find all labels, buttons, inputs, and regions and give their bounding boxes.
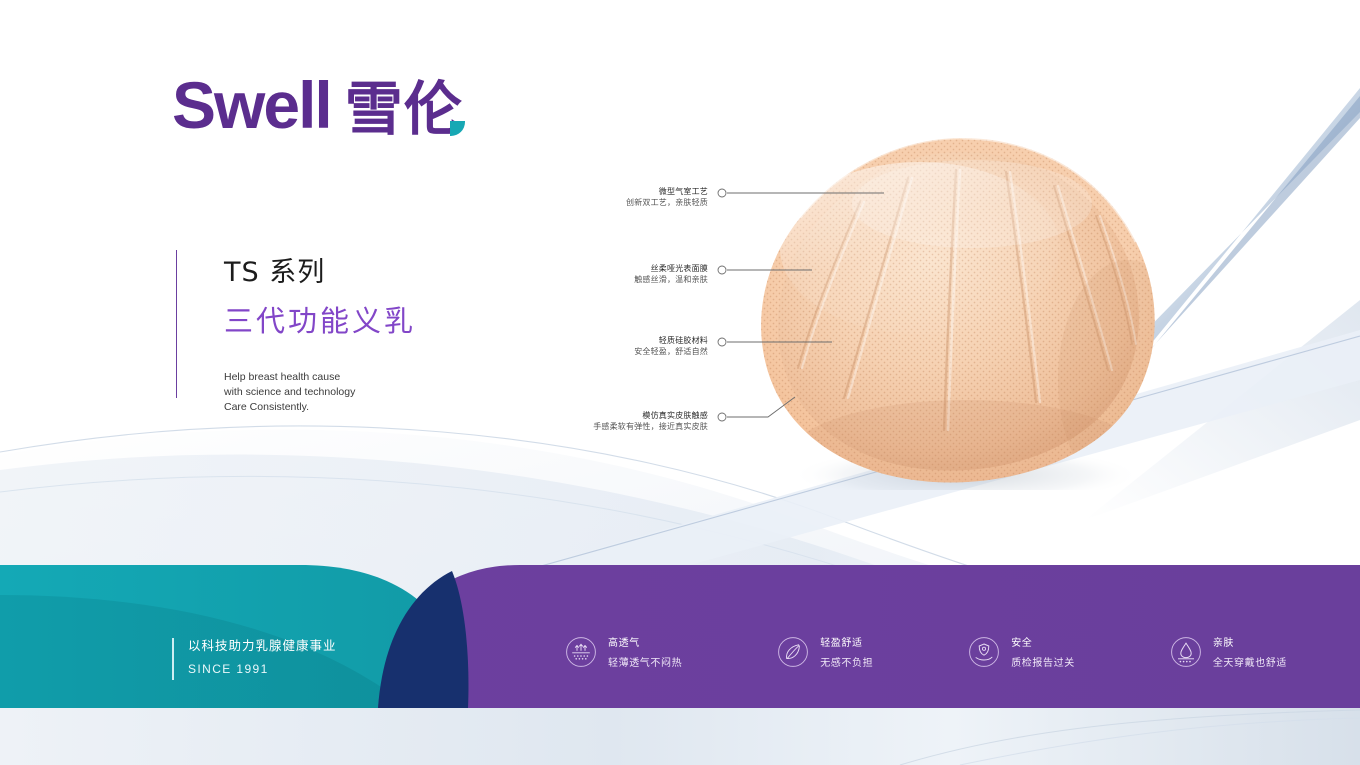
droplet-icon [1170,636,1202,668]
callout-2: 丝柔哑光表面膜 触感丝滑，温和亲肤 [560,263,708,285]
feature-text-skinfriendly: 亲肤 全天穿戴也舒适 [1213,634,1287,669]
callout-3-sub: 安全轻盈，舒适自然 [560,346,708,357]
feature-item-breathable: 高透气 轻薄透气不闷热 [565,634,682,669]
feather-icon [777,636,809,668]
title-block: TS 系列 三代功能义乳 Help breast health cause wi… [176,250,416,415]
feature-text-safety: 安全 质检报告过关 [1011,634,1075,669]
callout-3: 轻质硅胶材料 安全轻盈，舒适自然 [560,335,708,357]
feature-text-light: 轻盈舒适 无感不负担 [820,634,873,669]
tagline-english-line3: Care Consistently. [224,400,416,415]
brand-logo-latin: Swell [172,72,331,138]
feature-item-skinfriendly: 亲肤 全天穿戴也舒适 [1170,634,1287,669]
tagline-chinese: 以科技助力乳腺健康事业 [188,635,337,654]
feature-2-sub: 无感不负担 [820,654,873,669]
series-name: TS 系列 [224,250,416,289]
feature-1-sub: 轻薄透气不闷热 [608,654,682,669]
product-image [748,130,1178,490]
callout-1: 微型气室工艺 创新双工艺，亲肤轻质 [560,186,708,208]
feature-3-title: 安全 [1011,634,1075,649]
callout-3-title: 轻质硅胶材料 [560,335,708,346]
tagline-english: Help breast health cause with science an… [224,370,416,415]
tagline-english-line2: with science and technology [224,385,416,400]
tagline-rule [172,638,174,680]
callout-1-sub: 创新双工艺，亲肤轻质 [560,197,708,208]
tagline-since: SINCE 1991 [188,662,337,676]
feature-3-sub: 质检报告过关 [1011,654,1075,669]
title-vertical-rule [176,250,177,398]
tagline-english-line1: Help breast health cause [224,370,416,385]
callout-2-title: 丝柔哑光表面膜 [560,263,708,274]
breathable-icon [565,636,597,668]
callout-4-title: 模仿真实皮肤触感 [528,410,708,421]
feature-item-light: 轻盈舒适 无感不负担 [777,634,873,669]
callout-4: 模仿真实皮肤触感 手感柔软有弹性，接近真实皮肤 [528,410,708,432]
callout-1-title: 微型气室工艺 [560,186,708,197]
feature-list: 高透气 轻薄透气不闷热 轻盈舒适 无感不负担 安全 [565,634,1287,669]
feature-item-safety: 安全 质检报告过关 [968,634,1075,669]
callout-4-sub: 手感柔软有弹性，接近真实皮肤 [528,421,708,432]
shield-hand-icon [968,636,1000,668]
company-tagline: 以科技助力乳腺健康事业 SINCE 1991 [172,635,337,676]
feature-4-sub: 全天穿戴也舒适 [1213,654,1287,669]
feature-4-title: 亲肤 [1213,634,1287,649]
callout-2-sub: 触感丝滑，温和亲肤 [560,274,708,285]
product-name: 三代功能义乳 [224,298,416,340]
feature-1-title: 高透气 [608,634,682,649]
brand-logo-cjk: 雪伦 [345,80,463,138]
feature-text-breathable: 高透气 轻薄透气不闷热 [608,634,682,669]
poster-canvas: Swell 雪伦 TS 系列 三代功能义乳 Help breast health… [0,0,1360,765]
feature-2-title: 轻盈舒适 [820,634,873,649]
product-illustration [748,130,1178,490]
brand-logo: Swell 雪伦 [172,72,463,138]
